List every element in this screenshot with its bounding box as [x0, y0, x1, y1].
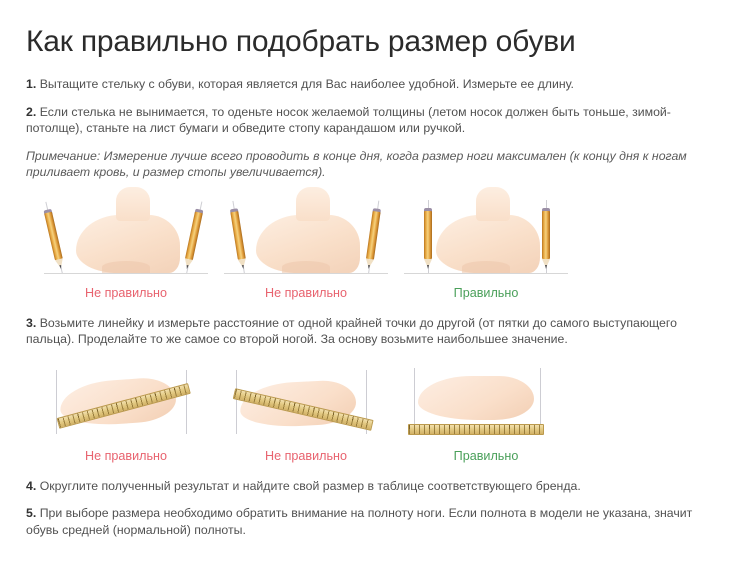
pencil-icon	[44, 211, 66, 273]
figure-pencil-correct: Правильно	[400, 193, 572, 301]
step-1-text: Вытащите стельку с обуви, которая являет…	[40, 77, 574, 91]
figure-caption: Правильно	[400, 442, 572, 464]
foot-top-with-aligned-ruler-icon	[400, 366, 572, 442]
foot-side-with-tilted-pencils-icon	[40, 193, 212, 279]
figure-ruler-incorrect-1: Не правильно	[40, 366, 212, 464]
step-1-paragraph: 1. Вытащите стельку с обуви, которая явл…	[26, 76, 726, 93]
guide-line-icon	[56, 370, 57, 434]
ruler-illustration-row: Не правильно Не правильно	[26, 366, 728, 464]
article-page: Как правильно подобрать размер обуви 1. …	[0, 0, 750, 538]
foot-icon	[436, 215, 540, 273]
pencil-icon	[424, 211, 432, 273]
step-4-paragraph: 4. Округлите полученный результат и найд…	[26, 478, 726, 495]
pencil-icon	[364, 211, 381, 274]
foot-icon	[76, 215, 180, 273]
step-1-number: 1.	[26, 77, 36, 91]
measurement-note: Примечание: Измерение лучше всего провод…	[26, 148, 716, 181]
baseline-icon	[224, 273, 388, 274]
step-3-text: Возьмите линейку и измерьте расстояние о…	[26, 316, 677, 347]
ruler-icon	[408, 424, 544, 435]
step-2-text: Если стелька не вынимается, то оденьте н…	[26, 105, 671, 136]
foot-side-with-vertical-pencils-icon	[400, 193, 572, 279]
step-2-paragraph: 2. Если стелька не вынимается, то оденьт…	[26, 104, 726, 137]
figure-pencil-incorrect-2: Не правильно	[220, 193, 392, 301]
figure-caption: Правильно	[400, 279, 572, 301]
pencil-icon	[542, 211, 550, 273]
foot-top-with-tilted-ruler-icon	[40, 366, 212, 442]
step-4-text: Округлите полученный результат и найдите…	[40, 479, 581, 493]
figure-caption: Не правильно	[220, 442, 392, 464]
page-title: Как правильно подобрать размер обуви	[26, 24, 728, 60]
step-4-number: 4.	[26, 479, 36, 493]
step-5-number: 5.	[26, 506, 36, 520]
figure-caption: Не правильно	[40, 279, 212, 301]
step-2-number: 2.	[26, 105, 36, 119]
figure-pencil-incorrect-1: Не правильно	[40, 193, 212, 301]
foot-side-with-tilted-pencils-icon	[220, 193, 392, 279]
figure-caption: Не правильно	[40, 442, 212, 464]
pencil-icon	[182, 211, 203, 273]
foot-top-with-crossing-ruler-icon	[220, 366, 392, 442]
guide-line-icon	[186, 370, 187, 434]
foot-icon	[418, 376, 534, 420]
step-3-paragraph: 3. Возьмите линейку и измерьте расстояни…	[26, 315, 726, 348]
baseline-icon	[404, 273, 568, 274]
step-5-paragraph: 5. При выборе размера необходимо обратит…	[26, 505, 726, 538]
pencil-illustration-row: Не правильно Не правильно	[26, 193, 728, 301]
baseline-icon	[44, 273, 208, 274]
step-3-number: 3.	[26, 316, 36, 330]
guide-line-icon	[236, 370, 237, 434]
pencil-icon	[230, 211, 248, 273]
foot-icon	[256, 215, 360, 273]
figure-ruler-incorrect-2: Не правильно	[220, 366, 392, 464]
figure-ruler-correct: Правильно	[400, 366, 572, 464]
figure-caption: Не правильно	[220, 279, 392, 301]
step-5-text: При выборе размера необходимо обратить в…	[26, 506, 692, 537]
